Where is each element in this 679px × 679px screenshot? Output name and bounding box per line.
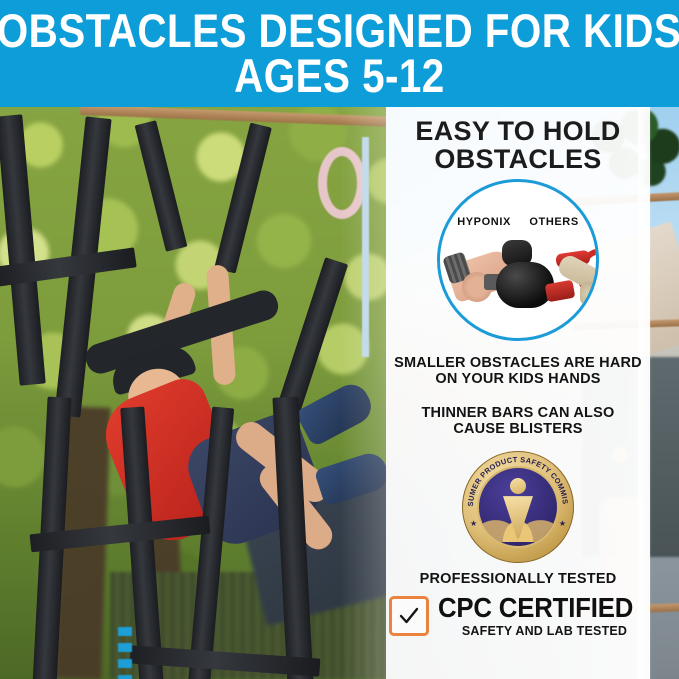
cpc-certified-row: CPC CERTIFIED SAFETY AND LAB TESTED bbox=[386, 594, 650, 638]
content-area: EASY TO HOLD OBSTACLES HYPONIX OTHERS bbox=[0, 107, 679, 679]
panel-content: EASY TO HOLD OBSTACLES HYPONIX OTHERS bbox=[386, 107, 650, 679]
claim-text-1: SMALLER OBSTACLES ARE HARD ON YOUR KIDS … bbox=[386, 355, 650, 387]
checkmark-icon bbox=[398, 605, 420, 627]
headline-line-2: AGES 5-12 bbox=[234, 53, 445, 99]
lifestyle-photo bbox=[0, 107, 386, 679]
others-tan-end bbox=[580, 282, 598, 306]
certification-checkbox[interactable] bbox=[389, 596, 429, 636]
feature-panel: EASY TO HOLD OBSTACLES HYPONIX OTHERS bbox=[386, 107, 679, 679]
cpc-certified-title: CPC CERTIFIED bbox=[438, 594, 633, 622]
product-comparison-circle: HYPONIX OTHERS bbox=[437, 179, 599, 341]
seal-star-icon: ★ bbox=[559, 519, 566, 528]
seal-figure-head bbox=[510, 478, 526, 494]
professionally-tested-text: PROFESSIONALLY TESTED bbox=[386, 572, 650, 588]
support-pole bbox=[362, 137, 369, 357]
headline-line-1: OBSTACLES DESIGNED FOR KIDS bbox=[0, 8, 679, 54]
blue-ladder bbox=[118, 627, 132, 679]
grip-product-images bbox=[440, 182, 596, 338]
claim-text-2: THINNER BARS CAN ALSO CAUSE BLISTERS bbox=[386, 405, 650, 437]
cpsc-seal: CONSUMER PRODUCT SAFETY COMMISSION UNITE… bbox=[462, 451, 574, 563]
product-infographic: OBSTACLES DESIGNED FOR KIDS AGES 5-12 bbox=[0, 0, 679, 679]
gymnastic-ring bbox=[318, 147, 366, 219]
headline-banner: OBSTACLES DESIGNED FOR KIDS AGES 5-12 bbox=[0, 0, 679, 107]
panel-title: EASY TO HOLD OBSTACLES bbox=[386, 107, 650, 173]
seal-emblem bbox=[479, 468, 557, 546]
cpc-text-block: CPC CERTIFIED SAFETY AND LAB TESTED bbox=[438, 594, 650, 638]
others-red-block bbox=[545, 280, 576, 303]
cpc-certified-subtitle: SAFETY AND LAB TESTED bbox=[438, 624, 650, 638]
seal-star-icon: ★ bbox=[470, 519, 477, 528]
